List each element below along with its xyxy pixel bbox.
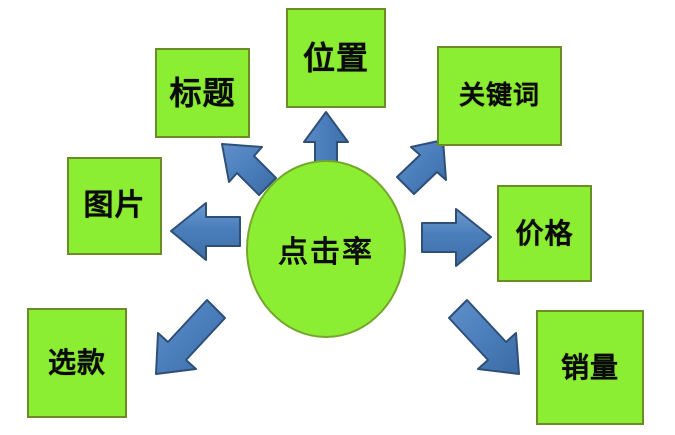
node-style-selection-label: 选款 (48, 349, 106, 377)
center-node-click-through-rate[interactable]: 点击率 (246, 160, 406, 338)
node-sales-volume[interactable]: 销量 (536, 310, 644, 425)
node-price-label: 价格 (515, 220, 573, 248)
node-price[interactable]: 价格 (497, 185, 592, 282)
diagram-canvas: 点击率 位置 标题 关键词 图片 价格 选款 销量 (0, 0, 675, 435)
arrow-right (422, 209, 491, 266)
node-title-label: 标题 (169, 77, 235, 109)
node-style-selection[interactable]: 选款 (27, 308, 127, 418)
node-sales-volume-label: 销量 (561, 354, 619, 382)
node-keyword-label: 关键词 (459, 83, 540, 109)
center-node-label: 点击率 (278, 227, 374, 271)
arrow-left (171, 203, 240, 260)
node-keyword[interactable]: 关键词 (437, 46, 562, 146)
node-title[interactable]: 标题 (155, 48, 250, 138)
node-image-label: 图片 (84, 191, 146, 221)
node-image[interactable]: 图片 (67, 157, 162, 255)
arrow-down-left (156, 300, 225, 374)
node-position[interactable]: 位置 (286, 8, 386, 108)
node-position-label: 位置 (303, 42, 369, 74)
arrow-down-right (449, 300, 519, 374)
arrow-up-right (397, 140, 446, 194)
